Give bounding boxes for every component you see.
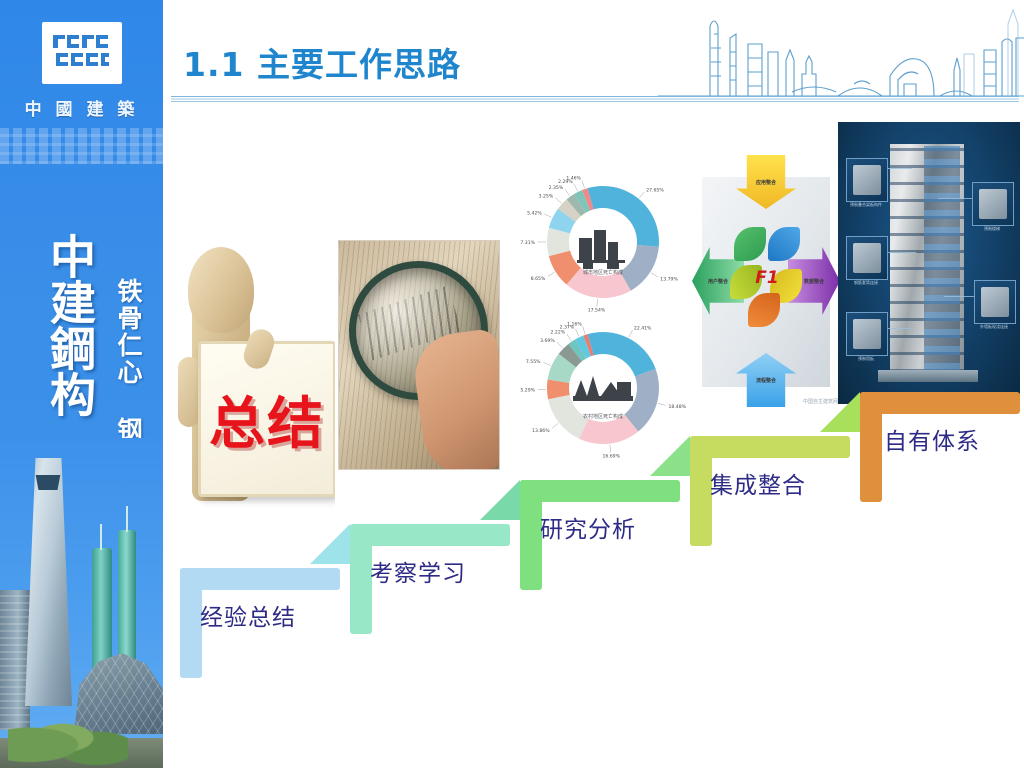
building-callout-2-label: 预制楼梯 bbox=[970, 226, 1014, 232]
building-callout-3 bbox=[846, 236, 888, 280]
title-divider bbox=[171, 96, 1019, 101]
donut-slice-label: 16.69% bbox=[602, 454, 620, 460]
mascot-summary-sign-image: 总结 bbox=[170, 245, 335, 517]
building-callout-5-label: 预制墙板 bbox=[844, 356, 888, 362]
f1-petal-portal bbox=[734, 227, 766, 261]
cscec-logo-icon bbox=[51, 33, 113, 73]
f1-petal-ecommerce bbox=[768, 227, 800, 261]
f1-watermark: 中国自主建筑网 bbox=[803, 398, 838, 405]
donut-slice-label: 18.48% bbox=[669, 404, 687, 410]
donut-chart-urban: 27.65%13.79%17.54%8.65%7.31%5.42%3.25%2.… bbox=[520, 176, 678, 314]
donut-slice-label: 8.65% bbox=[531, 276, 546, 282]
f1-petal-workflow bbox=[748, 293, 780, 327]
step-3-label: 研究分析 bbox=[540, 510, 636, 544]
mascot-left-arm bbox=[178, 357, 200, 427]
donut-slice-label: 1.46% bbox=[566, 176, 581, 182]
donut-slice-label: 1.16% bbox=[567, 321, 582, 327]
donut-slice-label: 5.29% bbox=[520, 388, 535, 394]
building-callout-4 bbox=[974, 280, 1016, 324]
building-callout-4-label: 外墙板现浇连接 bbox=[972, 324, 1016, 330]
donut-slice-label: 13.79% bbox=[660, 277, 678, 283]
building-glazing bbox=[924, 146, 960, 372]
building-callout-3-label: 钢筋套筒连接 bbox=[844, 280, 888, 286]
building-callout-1-label: 预制叠合梁板构件 bbox=[844, 202, 888, 208]
f1-integration-diagram: 应用整合 用户整合 数据整合 流程整合 F1 中国自主建筑网 bbox=[692, 155, 840, 407]
f1-center-label: F1 bbox=[752, 261, 782, 295]
step-4-label: 集成整合 bbox=[710, 466, 806, 500]
prefab-building-render: 预制叠合梁板构件 预制楼梯 钢筋套筒连接 外墙板现浇连接 预制墙板 bbox=[838, 122, 1020, 404]
building-callout-2 bbox=[972, 182, 1014, 226]
donut-chart-rural: 22.41%18.48%16.69%13.86%5.29%7.55%3.69%2… bbox=[520, 321, 686, 459]
building-callout-1 bbox=[846, 158, 888, 202]
page-title: 1.1 主要工作思路 bbox=[183, 38, 461, 86]
step-2-wedge bbox=[480, 480, 520, 520]
slide-root: 中 國 建 築 中建鋼构 铁骨仁心 钢构未来 1.1 主要工作思路 bbox=[0, 0, 1024, 768]
donut-slice-label: 13.86% bbox=[532, 428, 550, 434]
sidebar-city-photo bbox=[0, 438, 163, 768]
magnifier-newspaper-photo bbox=[338, 240, 500, 470]
donut-slice-label: 7.31% bbox=[520, 240, 535, 246]
logo-caption: 中 國 建 築 bbox=[0, 95, 163, 120]
donut-slice-label: 17.54% bbox=[588, 308, 606, 314]
slide-header: 1.1 主要工作思路 bbox=[163, 0, 1024, 110]
donut-slice-label: 2.35% bbox=[549, 185, 564, 191]
cscec-logo bbox=[42, 22, 122, 84]
step-5-label: 自有体系 bbox=[884, 422, 980, 456]
brand-sidebar: 中 國 建 築 中建鋼构 铁骨仁心 钢构未来 bbox=[0, 0, 163, 768]
f1-core: F1 bbox=[732, 225, 800, 335]
brand-vertical-text: 中建鋼构 bbox=[26, 190, 98, 460]
donut-slice-label: 5.42% bbox=[527, 211, 542, 217]
donut-slice-label: 22.41% bbox=[634, 325, 652, 331]
step-1-label: 经验总结 bbox=[200, 598, 296, 632]
donut-slice-label: 3.25% bbox=[539, 194, 554, 200]
donut-charts-svg: 27.65%13.79%17.54%8.65%7.31%5.42%3.25%2.… bbox=[512, 170, 694, 470]
step-1-wedge bbox=[310, 524, 350, 564]
donut-charts-image: 27.65%13.79%17.54%8.65%7.31%5.42%3.25%2.… bbox=[512, 170, 694, 470]
building-callout-5 bbox=[846, 312, 888, 356]
donut-slice-label: 3.69% bbox=[540, 338, 555, 344]
step-2-label: 考察学习 bbox=[370, 554, 466, 588]
city-skyline-icon bbox=[658, 4, 1024, 102]
donut-slice-label: 7.55% bbox=[526, 359, 541, 365]
mascot-head bbox=[188, 247, 254, 333]
building-base bbox=[878, 370, 978, 382]
donut-b-center-label: 农村地区死亡构成 bbox=[583, 413, 623, 420]
hatch-decoration bbox=[0, 128, 163, 164]
summary-board-text: 总结 bbox=[209, 379, 325, 460]
donut-slice-label: 27.65% bbox=[646, 188, 664, 194]
donut-a-center-label: 城市地区死亡构成 bbox=[583, 269, 623, 276]
